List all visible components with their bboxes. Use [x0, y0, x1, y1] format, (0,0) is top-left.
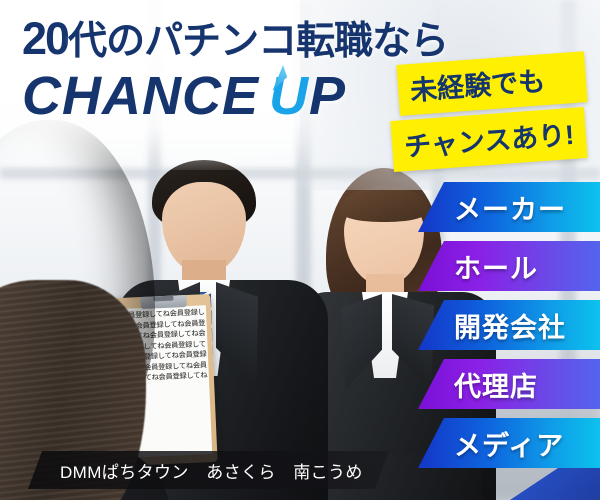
- category-tag-list: メーカー ホール 開発会社 代理店 メディア: [418, 182, 600, 477]
- category-tag-label: メーカー: [454, 188, 566, 227]
- promo-banner: 会員登録してね会員登録してね会員登録してね会員登録してね会員登録してね会員登録し…: [0, 0, 600, 500]
- category-tag-maker[interactable]: メーカー: [418, 182, 600, 232]
- category-tag-label: 代理店: [454, 365, 538, 404]
- caption-bar: DMMぱちタウン あさくら 南こうめ: [28, 451, 389, 489]
- wordmark-up: UP: [269, 69, 346, 123]
- category-tag-agency[interactable]: 代理店: [418, 359, 600, 409]
- headline-line-1-text: 代のパチンコ転職なら: [68, 20, 448, 63]
- badge-chance-available: チャンスあり!: [390, 107, 587, 172]
- headline-line-1: 20代のパチンコ転職なら: [22, 16, 448, 61]
- wordmark-u: U: [269, 66, 309, 126]
- highlight-badges: 未経験でも チャンスあり!: [398, 58, 586, 165]
- category-tag-hall[interactable]: ホール: [418, 241, 600, 291]
- wordmark-p: P: [309, 66, 346, 126]
- category-tag-media[interactable]: メディア: [418, 418, 600, 468]
- caption-text: DMMぱちタウン あさくら 南こうめ: [60, 458, 363, 483]
- category-tag-label: メディア: [454, 424, 564, 463]
- headline-line-2: CHANCEUP: [22, 69, 448, 123]
- category-tag-development-company[interactable]: 開発会社: [418, 300, 600, 350]
- headline: 20代のパチンコ転職なら CHANCEUP: [22, 16, 448, 123]
- headline-age-number: 20: [22, 13, 68, 64]
- badge-no-experience: 未経験でも: [396, 51, 587, 116]
- wordmark-chance: CHANCE: [22, 66, 259, 126]
- person-interviewer-foreground: [0, 120, 155, 500]
- category-tag-label: ホール: [454, 247, 538, 286]
- category-tag-label: 開発会社: [454, 306, 566, 345]
